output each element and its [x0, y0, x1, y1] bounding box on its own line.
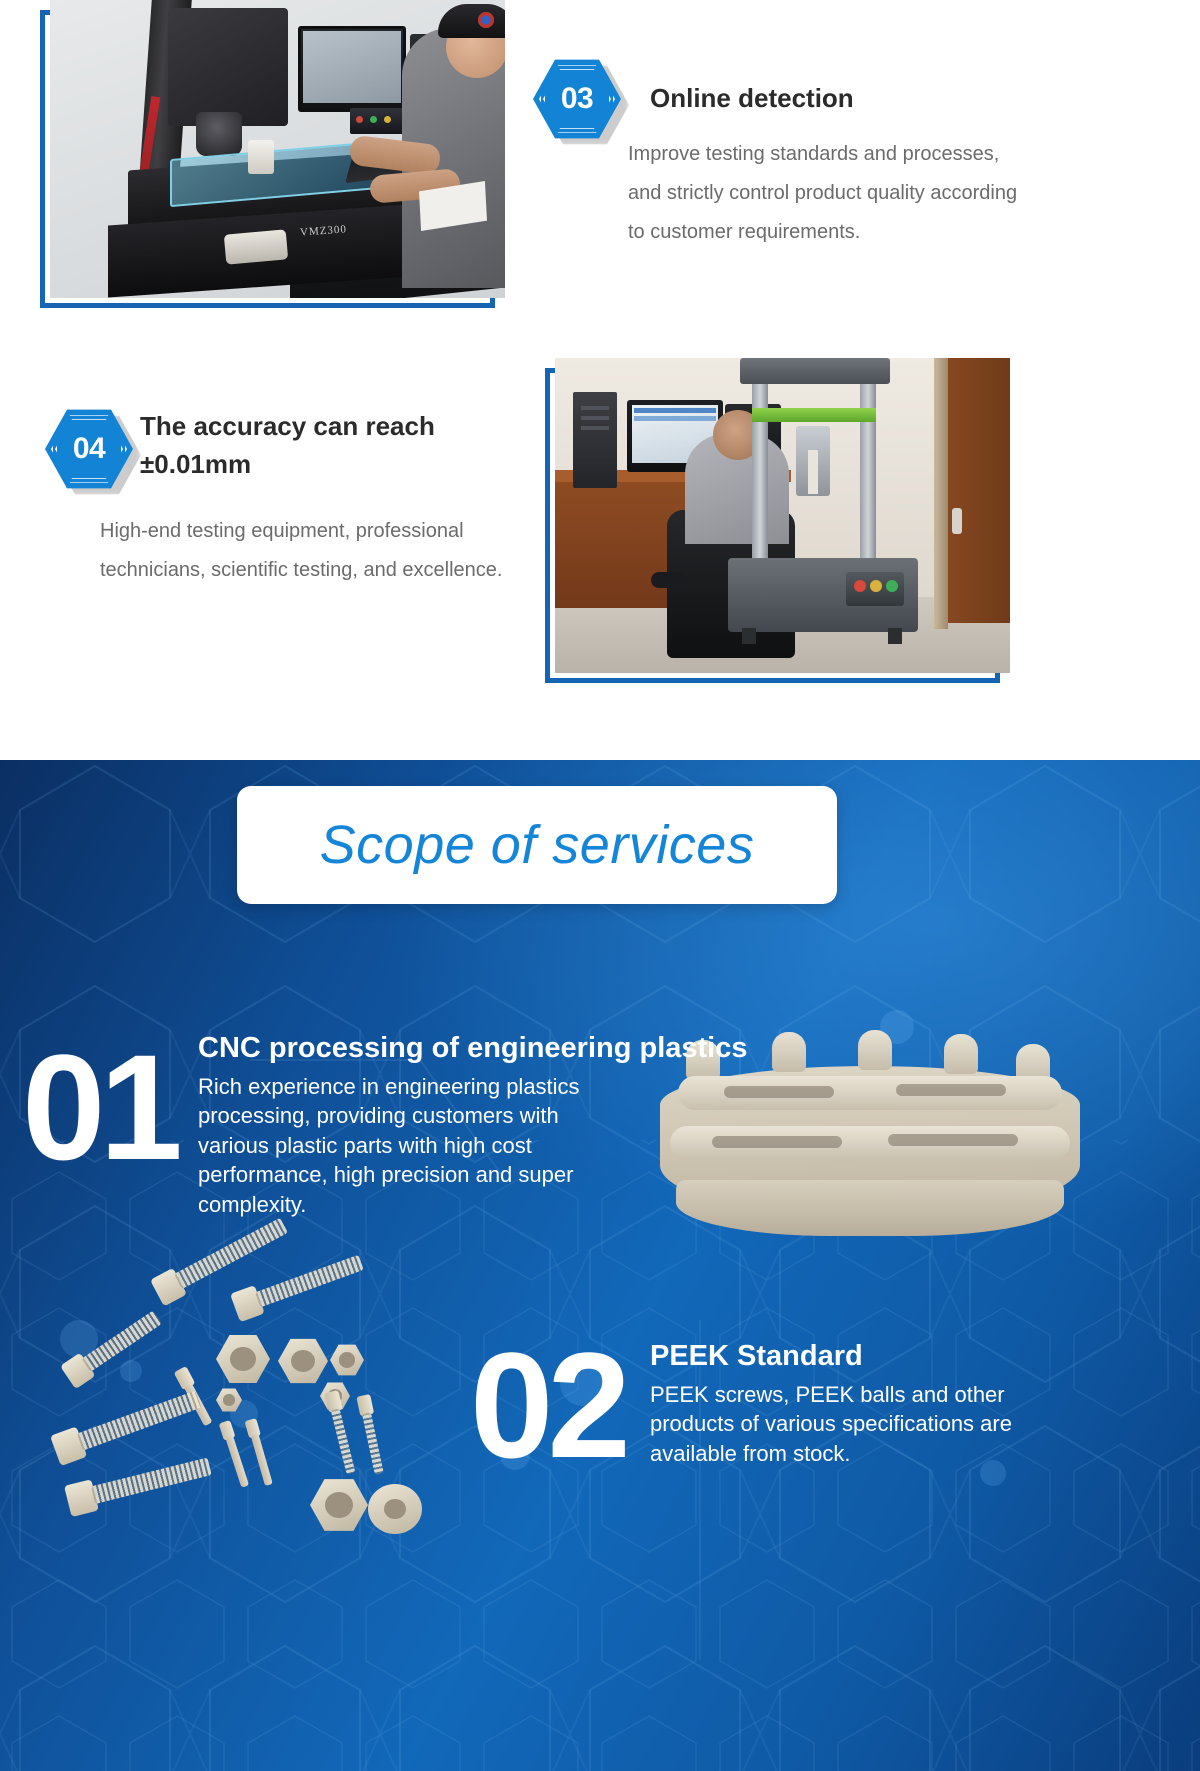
feature-badge-03: 03 — [533, 58, 621, 140]
service-number-01: 01 — [22, 1032, 177, 1182]
service-body-cnc-processing: Rich experience in engineering plastics … — [198, 1072, 630, 1219]
feature-photo-accuracy — [545, 368, 1000, 683]
service-title-peek-standard: PEEK Standard — [650, 1340, 1130, 1373]
photo-tensile-testing-machine — [555, 358, 1010, 673]
feature-body-accuracy: High-end testing equipment, professional… — [100, 512, 530, 590]
features-section: VMZ300 03 Online detection Improve testi… — [0, 0, 1200, 860]
scope-title-card: Scope of services — [237, 786, 837, 904]
badge-number: 03 — [533, 58, 621, 140]
feature-title-accuracy: The accuracy can reach ±0.01mm — [140, 408, 480, 483]
service-title-cnc-processing: CNC processing of engineering plastics — [198, 1032, 958, 1065]
photo-optical-measuring-machine: VMZ300 — [50, 0, 505, 298]
badge-number: 04 — [45, 408, 133, 490]
feature-badge-04: 04 — [45, 408, 133, 490]
product-photo-peek-screws — [30, 1270, 450, 1550]
service-body-peek-standard: PEEK screws, PEEK balls and other produc… — [650, 1380, 1050, 1468]
product-photo-peek-machined-part — [660, 1030, 1080, 1270]
scope-title: Scope of services — [320, 814, 755, 876]
feature-photo-online-detection: VMZ300 — [40, 10, 495, 308]
feature-body-online-detection: Improve testing standards and processes,… — [628, 135, 1018, 252]
service-number-02: 02 — [470, 1330, 625, 1480]
feature-title-online-detection: Online detection — [650, 80, 1150, 118]
